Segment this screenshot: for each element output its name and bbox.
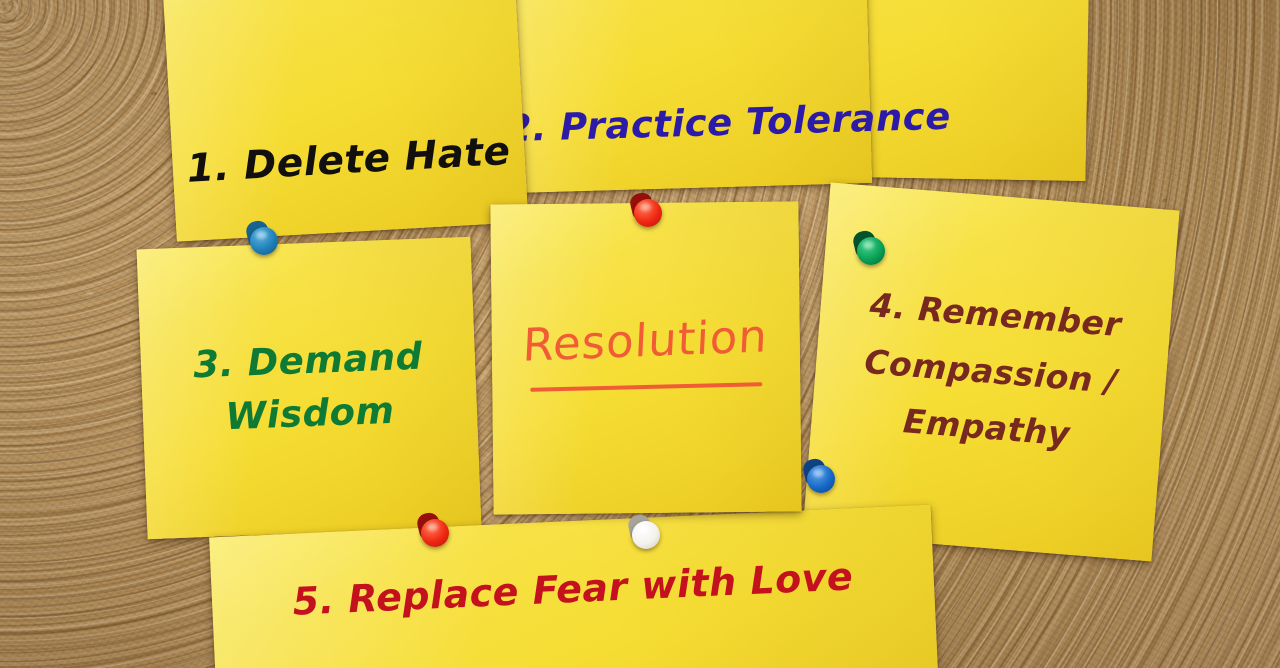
pushpin-white-bottom[interactable] bbox=[625, 514, 663, 554]
note-delete-hate-text: 1. Delete Hate bbox=[176, 0, 512, 198]
note-remember-compassion-text: 4. Remember Compassion / Empathy bbox=[846, 276, 1136, 468]
resolution-underline bbox=[530, 382, 762, 392]
cork-board: 2. Practice Tolerance 1. Delete Hate 3. … bbox=[0, 0, 1280, 668]
note-delete-hate[interactable]: 1. Delete Hate bbox=[160, 0, 529, 242]
pushpin-red-bottom-left-gloss bbox=[427, 523, 438, 531]
resolution-word: Resolution bbox=[522, 309, 770, 372]
note-practice-tolerance[interactable]: 2. Practice Tolerance bbox=[504, 0, 872, 193]
pushpin-red-top-center[interactable] bbox=[627, 192, 665, 232]
pushpin-blue-left[interactable] bbox=[243, 220, 281, 260]
pushpin-blue-left-gloss bbox=[256, 231, 267, 239]
note-resolution[interactable]: Resolution bbox=[490, 201, 801, 514]
pushpin-blue-right[interactable] bbox=[800, 458, 838, 498]
note-replace-fear-with-love-text: 5. Replace Fear with Love bbox=[291, 550, 858, 668]
pushpin-green-right[interactable] bbox=[850, 230, 888, 270]
pushpin-green-right-gloss bbox=[863, 241, 874, 249]
pushpin-blue-right-gloss bbox=[813, 469, 824, 477]
note-demand-wisdom[interactable]: 3. Demand Wisdom bbox=[137, 237, 482, 540]
resolution-content: Resolution bbox=[523, 312, 769, 404]
pushpin-red-bottom-left[interactable] bbox=[414, 512, 452, 552]
note-demand-wisdom-text: 3. Demand Wisdom bbox=[192, 331, 425, 445]
pushpin-white-bottom-gloss bbox=[638, 525, 649, 533]
pushpin-red-top-center-gloss bbox=[640, 203, 651, 211]
